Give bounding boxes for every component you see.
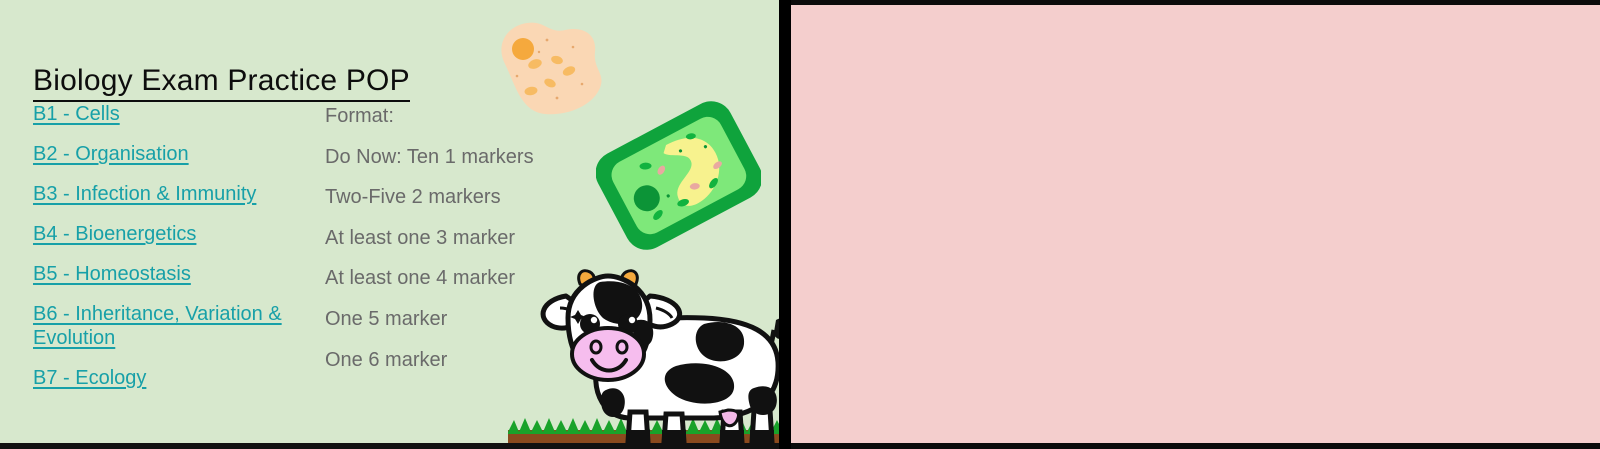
chemistry-panel-top-rule (791, 0, 1600, 5)
animal-cell-icon (487, 18, 612, 118)
biology-format-row-3: At least one 3 marker (325, 227, 565, 251)
biology-panel: Biology Exam Practice POP B1 - Cells B2 … (0, 0, 779, 449)
biology-link-b6[interactable]: B6 - Inheritance, Variation & Evolution (33, 303, 323, 350)
biology-format-row-6: One 6 marker (325, 349, 565, 373)
biology-link-b5[interactable]: B5 - Homeostasis (33, 263, 323, 287)
biology-format-row-2: Two-Five 2 markers (325, 186, 565, 210)
biology-topic-links: B1 - Cells B2 - Organisation B3 - Infect… (33, 103, 323, 407)
biology-link-b2[interactable]: B2 - Organisation (33, 143, 323, 167)
biology-format-row-5: One 5 marker (325, 308, 565, 332)
biology-link-b7[interactable]: B7 - Ecology (33, 367, 323, 391)
biology-format-block: Format: Do Now: Ten 1 markers Two-Five 2… (325, 105, 565, 389)
biology-format-row-4: At least one 4 marker (325, 267, 565, 291)
vertical-scrollbar[interactable] (779, 0, 791, 449)
screenshot-root: Biology Exam Practice POP B1 - Cells B2 … (0, 0, 1600, 449)
biology-format-heading: Format: (325, 105, 565, 129)
biology-format-row-1: Do Now: Ten 1 markers (325, 146, 565, 170)
biology-link-b4[interactable]: B4 - Bioenergetics (33, 223, 323, 247)
biology-page-title: Biology Exam Practice POP (33, 64, 410, 102)
biology-panel-bottom-rule (0, 443, 779, 449)
chemistry-panel-bottom-rule (791, 443, 1600, 449)
chemistry-panel: Chemistry Exam Practice POP C1 - Atoms, … (791, 0, 1600, 449)
biology-link-b1[interactable]: B1 - Cells (33, 103, 323, 127)
plant-cell-icon (596, 89, 761, 264)
biology-link-b3[interactable]: B3 - Infection & Immunity (33, 183, 323, 207)
